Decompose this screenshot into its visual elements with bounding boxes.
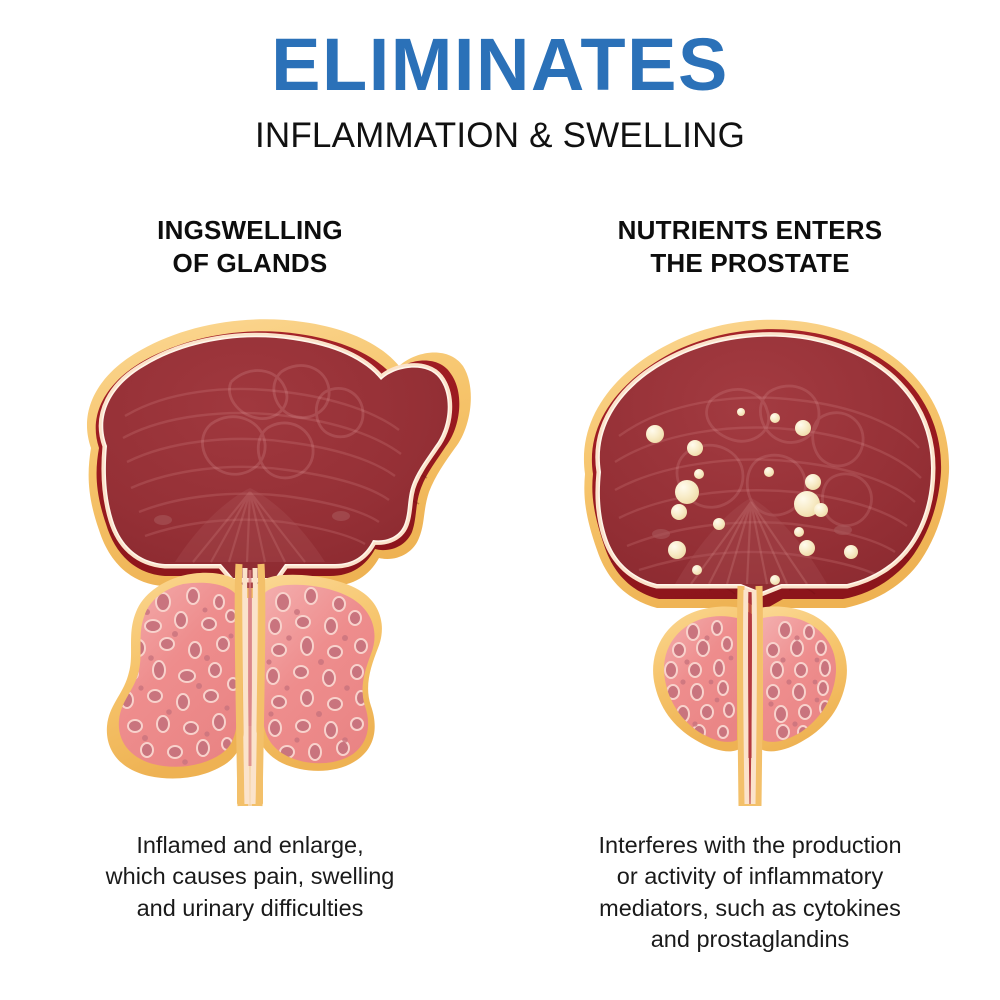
ureteric-orifice-right — [834, 525, 852, 535]
header: ELIMINATES INFLAMMATION & SWELLING — [0, 28, 1000, 153]
inflamed-enlarged-prostate-illustration — [35, 296, 465, 816]
page-title: ELIMINATES — [0, 28, 1000, 102]
column-right-figure — [530, 296, 970, 816]
column-right-caption: Interferes with the production or activi… — [580, 830, 919, 956]
column-right-heading: NUTRIENTS ENTERS THE PROSTATE — [618, 214, 883, 284]
page-subtitle: INFLAMMATION & SWELLING — [0, 118, 1000, 153]
column-left-figure — [30, 296, 470, 816]
column-left-heading: INGSWELLING OF GLANDS — [157, 214, 343, 284]
column-right-healthy: NUTRIENTS ENTERS THE PROSTATE — [500, 214, 1000, 956]
column-left-inflamed: INGSWELLING OF GLANDS — [0, 214, 500, 956]
healthy-prostate-with-nutrients-illustration — [535, 296, 965, 816]
infographic-page: ELIMINATES INFLAMMATION & SWELLING INGSW… — [0, 0, 1000, 1000]
comparison-columns: INGSWELLING OF GLANDS — [0, 214, 1000, 956]
column-left-caption: Inflamed and enlarge, which causes pain,… — [88, 830, 413, 924]
ureteric-orifice-left — [154, 515, 172, 525]
ureteric-orifice-left — [652, 529, 670, 539]
ureteric-orifice-right — [332, 511, 350, 521]
